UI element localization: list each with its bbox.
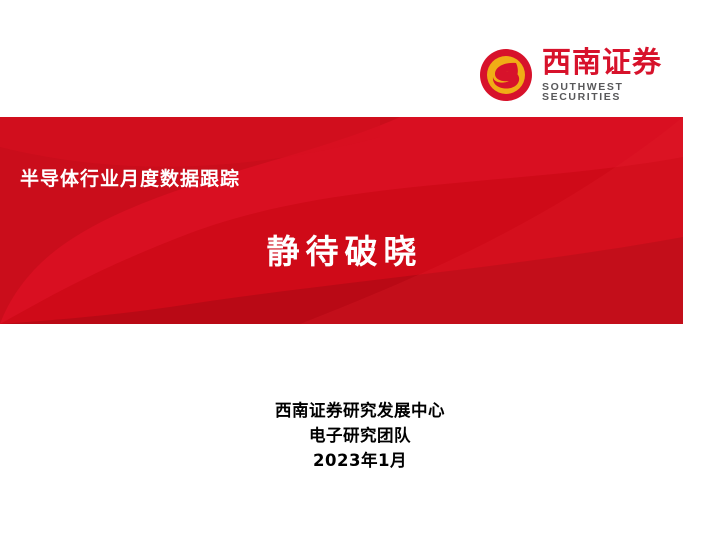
banner-title: 静待破晓: [0, 225, 683, 273]
logo-english-name: SOUTHWEST SECURITIES: [542, 82, 680, 103]
footer-block: 西南证券研究发展中心 电子研究团队 2023年1月: [0, 398, 720, 473]
banner-wave-decoration: [0, 117, 683, 324]
banner-subtitle: 半导体行业月度数据跟踪: [20, 164, 240, 191]
footer-line-team: 电子研究团队: [0, 423, 720, 448]
company-logo: 西南证券 SOUTHWEST SECURITIES: [480, 44, 680, 106]
logo-mark-icon: [480, 49, 532, 101]
footer-line-institute: 西南证券研究发展中心: [0, 398, 720, 423]
footer-line-date: 2023年1月: [0, 448, 720, 473]
presentation-slide: 西南证券 SOUTHWEST SECURITIES 半导体行业月度数据跟踪 静待…: [0, 0, 720, 540]
title-banner: 半导体行业月度数据跟踪 静待破晓: [0, 117, 683, 324]
logo-swoosh-icon: [490, 59, 522, 91]
logo-text: 西南证券 SOUTHWEST SECURITIES: [542, 48, 680, 103]
logo-chinese-name: 西南证券: [542, 48, 680, 77]
